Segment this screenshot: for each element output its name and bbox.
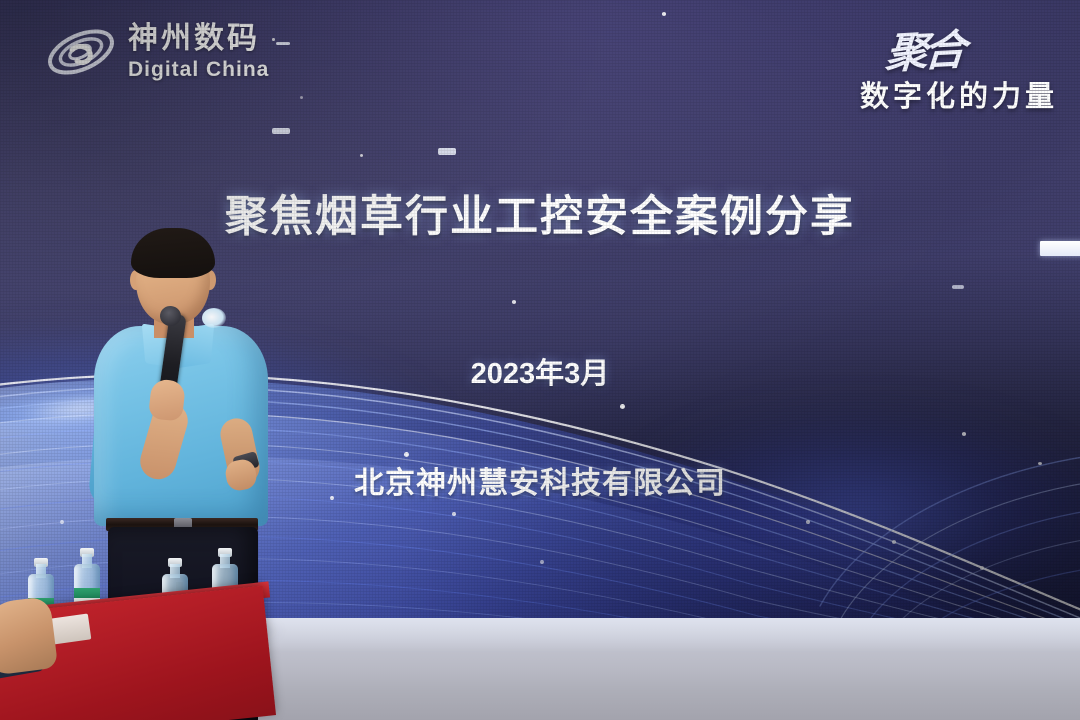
particle-dash <box>438 148 456 155</box>
particle-dot <box>360 154 363 157</box>
particle-dash <box>272 128 290 134</box>
brand-name-en: Digital China <box>128 59 269 80</box>
particle-dash <box>276 42 290 45</box>
brand-wordmark: 神州数码 Digital China <box>128 24 269 80</box>
seated-attendee <box>0 596 58 676</box>
particle-dash <box>952 285 964 289</box>
particle-dot <box>272 38 275 41</box>
conference-photo: 神州数码 Digital China 聚合 数字化的力量 聚焦烟草行业工控安全案… <box>0 0 1080 720</box>
digital-china-logo: 神州数码 Digital China <box>44 20 269 84</box>
screen-edge-plate <box>1040 241 1080 256</box>
particle-dot <box>662 12 666 16</box>
presenter-hair <box>131 228 215 278</box>
event-theme-logo: 聚合 数字化的力量 <box>860 18 1058 115</box>
presenter-left-hand <box>148 378 186 421</box>
brand-name-cn: 神州数码 <box>128 24 269 54</box>
presenter-shirt-logo <box>202 308 226 328</box>
swirl-spiral-icon <box>44 20 118 84</box>
particle-dot <box>300 96 303 99</box>
theme-calligraphy: 聚合 <box>884 16 965 81</box>
